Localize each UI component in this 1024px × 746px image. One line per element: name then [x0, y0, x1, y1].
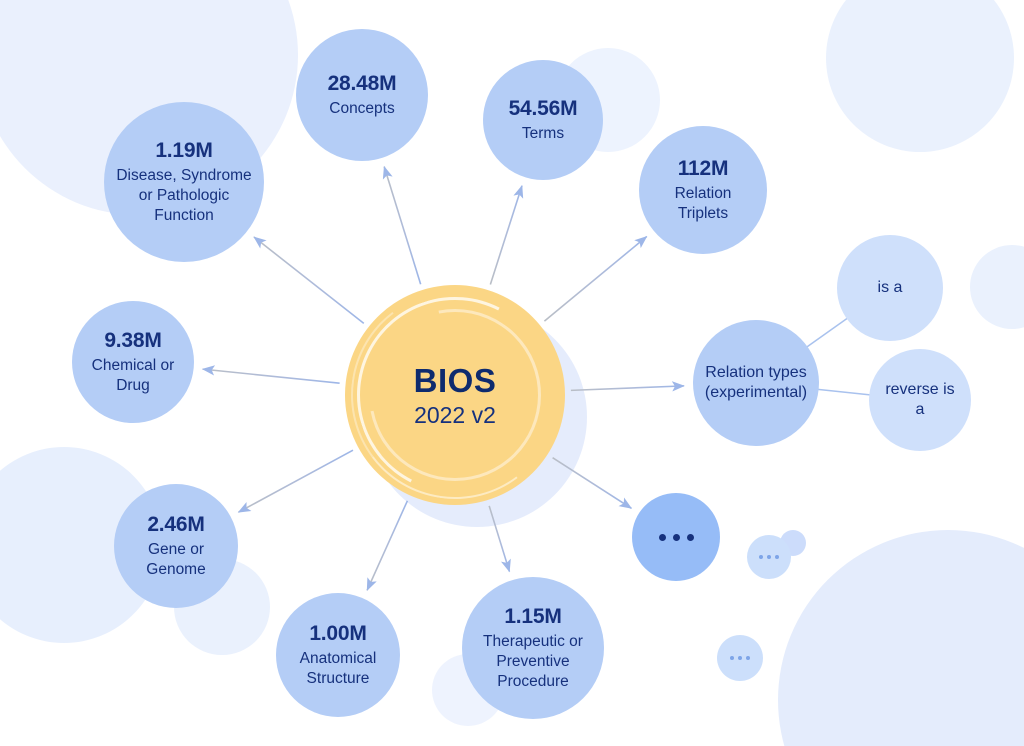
stat-label: Chemical or Drug — [72, 356, 194, 396]
stat-node-anatomical-structure[interactable]: 1.00MAnatomical Structure — [276, 593, 400, 717]
stat-label: Therapeutic or Preventive Procedure — [462, 632, 604, 691]
stat-value: 28.48M — [328, 71, 397, 98]
ellipsis-dots-icon — [759, 555, 779, 559]
ellipsis-node-more-tertiary[interactable] — [717, 635, 763, 681]
stat-value: 9.38M — [104, 328, 161, 355]
relation-types-line2: (experimental) — [699, 383, 813, 403]
stat-node-chemical-drug[interactable]: 9.38MChemical or Drug — [72, 301, 194, 423]
stat-node-therapeutic-procedure[interactable]: 1.15MTherapeutic or Preventive Procedure — [462, 577, 604, 719]
stat-label: Concepts — [319, 99, 404, 119]
relations-to-is-a — [806, 317, 849, 347]
hub-node-bios[interactable]: BIOS 2022 v2 — [345, 285, 565, 505]
stat-label: Gene or Genome — [114, 540, 238, 580]
stat-value: 1.15M — [504, 604, 561, 631]
hub-version: 2022 v2 — [414, 402, 496, 429]
relation-satellite-is-a[interactable]: is a — [837, 235, 943, 341]
stat-node-concepts[interactable]: 28.48MConcepts — [296, 29, 428, 161]
stat-node-relation-triplets[interactable]: 112MRelation Triplets — [639, 126, 767, 254]
relation-satellite-label: is a — [868, 278, 913, 298]
ellipsis-node-more-secondary[interactable] — [747, 535, 791, 579]
hub-title: BIOS — [414, 362, 497, 400]
relation-satellite-label: reverse is a — [869, 380, 971, 421]
relations-to-reverse-is-a — [817, 389, 872, 395]
stat-node-disease-syndrome[interactable]: 1.19MDisease, Syndrome or Pathologic Fun… — [104, 102, 264, 262]
stat-node-terms[interactable]: 54.56MTerms — [483, 60, 603, 180]
stat-value: 2.46M — [147, 512, 204, 539]
ellipsis-node-more-primary[interactable] — [632, 493, 720, 581]
stat-value: 1.19M — [155, 138, 212, 165]
ellipsis-dots-icon — [730, 656, 750, 660]
stat-node-gene-genome[interactable]: 2.46MGene or Genome — [114, 484, 238, 608]
relation-satellite-reverse-is-a[interactable]: reverse is a — [869, 349, 971, 451]
relation-types-node[interactable]: Relation types(experimental) — [693, 320, 819, 446]
stat-value: 54.56M — [509, 96, 578, 123]
stat-value: 1.00M — [309, 621, 366, 648]
ellipsis-dots-icon — [659, 534, 694, 541]
stat-label: Relation Triplets — [639, 184, 767, 224]
stat-label: Terms — [512, 124, 574, 144]
stat-label: Anatomical Structure — [276, 649, 400, 689]
stat-value: 112M — [678, 156, 729, 183]
stat-label: Disease, Syndrome or Pathologic Function — [104, 166, 264, 225]
relation-types-line1: Relation types — [699, 363, 812, 383]
infographic-canvas: BIOS 2022 v2 28.48MConcepts54.56MTerms11… — [0, 0, 1024, 746]
